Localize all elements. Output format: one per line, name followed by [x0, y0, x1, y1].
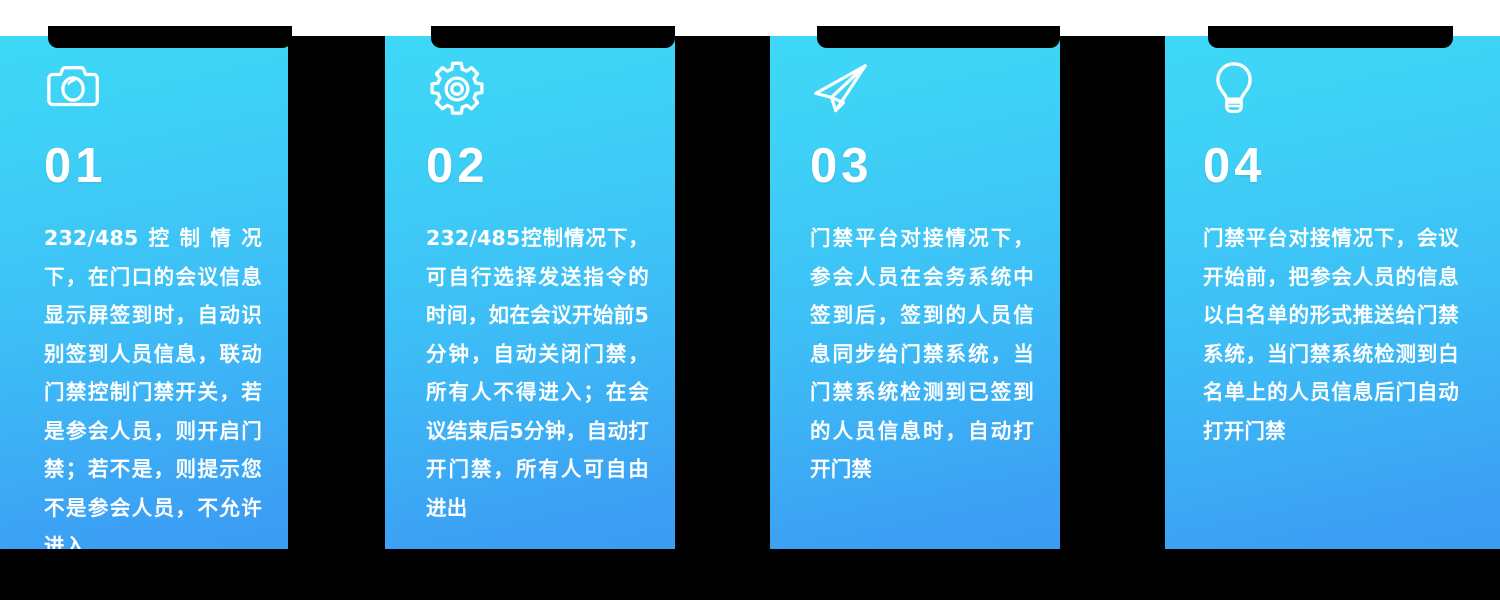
card-number: 01 [44, 142, 262, 191]
card-content: 04 门禁平台对接情况下，会议开始前，把参会人员的信息以白名单的形式推送给门禁系… [1165, 36, 1500, 549]
poster-stage: 01 232/485控制情况下，在门口的会议信息显示屏签到时，自动识别签到人员信… [0, 0, 1500, 600]
card-number: 03 [810, 142, 1034, 191]
camera-icon [44, 58, 106, 120]
card-body-text: 门禁平台对接情况下，会议开始前，把参会人员的信息以白名单的形式推送给门禁系统，当… [1203, 219, 1459, 450]
feature-card-02[interactable]: 02 232/485控制情况下，可自行选择发送指令的时间，如在会议开始前5分钟，… [385, 36, 675, 549]
card-content: 02 232/485控制情况下，可自行选择发送指令的时间，如在会议开始前5分钟，… [385, 36, 675, 549]
feature-card-01[interactable]: 01 232/485控制情况下，在门口的会议信息显示屏签到时，自动识别签到人员信… [0, 36, 288, 549]
gutter-3 [1060, 36, 1165, 549]
feature-card-04[interactable]: 04 门禁平台对接情况下，会议开始前，把参会人员的信息以白名单的形式推送给门禁系… [1165, 36, 1500, 549]
paper-plane-icon [810, 58, 872, 120]
gutter-2 [675, 36, 770, 549]
feature-card-03[interactable]: 03 门禁平台对接情况下，参会人员在会务系统中签到后，签到的人员信息同步给门禁系… [770, 36, 1060, 549]
card-number: 04 [1203, 142, 1474, 191]
card-content: 01 232/485控制情况下，在门口的会议信息显示屏签到时，自动识别签到人员信… [0, 36, 288, 549]
card-number: 02 [426, 142, 649, 191]
gutter-1 [288, 36, 385, 549]
card-body-text: 232/485控制情况下，可自行选择发送指令的时间，如在会议开始前5分钟，自动关… [426, 219, 649, 527]
lightbulb-icon [1203, 58, 1265, 120]
gear-icon [426, 58, 488, 120]
card-body-text: 232/485控制情况下，在门口的会议信息显示屏签到时，自动识别签到人员信息，联… [44, 219, 262, 566]
bottom-black-band [0, 549, 1500, 600]
card-body-text: 门禁平台对接情况下，参会人员在会务系统中签到后，签到的人员信息同步给门禁系统，当… [810, 219, 1034, 489]
card-row: 01 232/485控制情况下，在门口的会议信息显示屏签到时，自动识别签到人员信… [0, 36, 1500, 550]
card-content: 03 门禁平台对接情况下，参会人员在会务系统中签到后，签到的人员信息同步给门禁系… [770, 36, 1060, 549]
